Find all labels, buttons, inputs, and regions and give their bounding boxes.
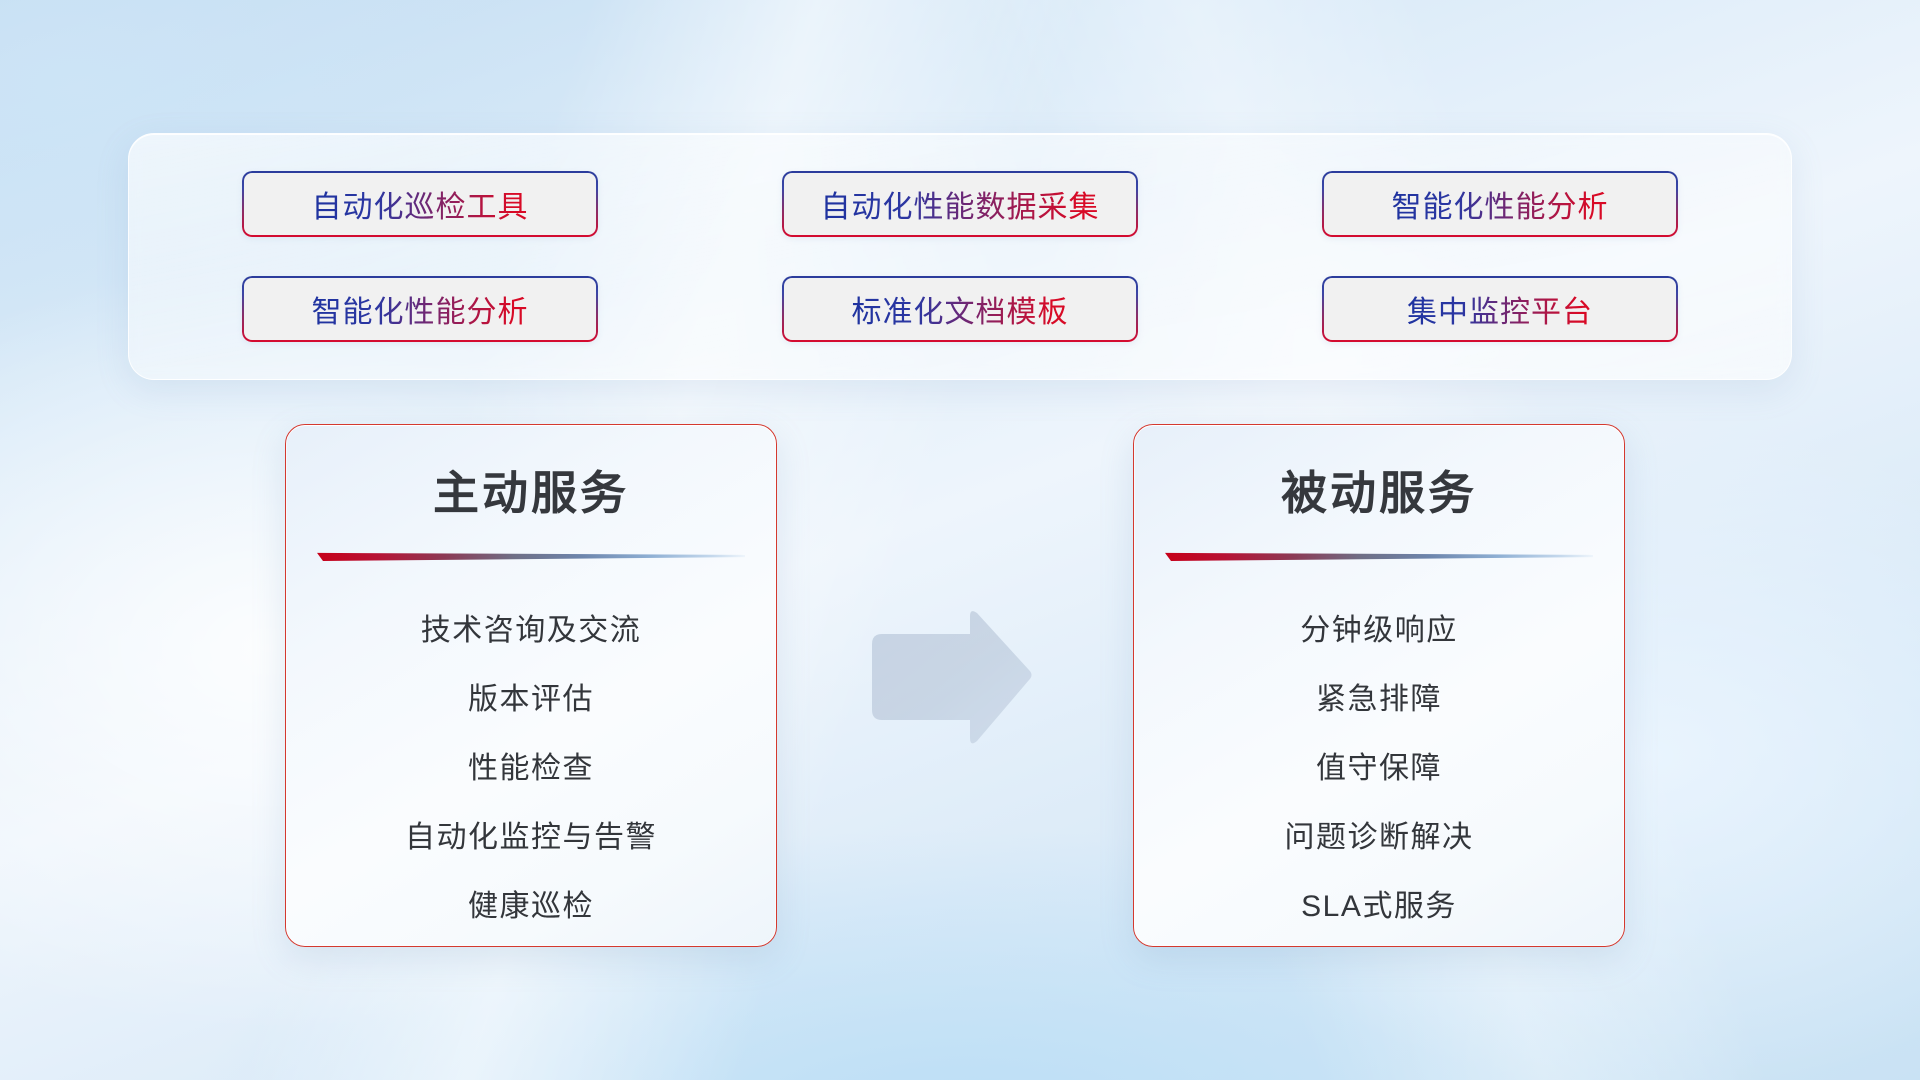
capability-pill-label: 智能化性能分析 <box>1392 182 1609 226</box>
service-item: 性能检查 <box>468 743 594 787</box>
divider-bar <box>1165 547 1593 561</box>
capability-tags-panel: 自动化巡检工具 自动化性能数据采集 智能化性能分析 智能化性能分析 标准化文档模… <box>128 133 1792 380</box>
capability-pill-label: 标准化文档模板 <box>852 287 1069 331</box>
card-title: 主动服务 <box>286 457 776 523</box>
capability-pill-5[interactable]: 标准化文档模板 <box>782 276 1138 342</box>
reactive-service-card[interactable]: 被动服务 分钟级响应 紧急排障 值守保障 问题诊断解决 SLA式服务 <box>1133 424 1625 947</box>
service-item: 问题诊断解决 <box>1285 812 1474 856</box>
card-title: 被动服务 <box>1134 457 1624 523</box>
service-item: SLA式服务 <box>1301 881 1457 925</box>
capability-pill-2[interactable]: 自动化性能数据采集 <box>782 171 1138 237</box>
divider-bar <box>317 547 745 561</box>
capability-pill-3[interactable]: 智能化性能分析 <box>1322 171 1678 237</box>
service-item: 紧急排障 <box>1316 674 1442 718</box>
arrow-right-icon <box>866 608 1034 748</box>
card-title-divider <box>317 547 745 561</box>
card-title-divider <box>1165 547 1593 561</box>
service-item: 版本评估 <box>468 674 594 718</box>
capability-pill-label: 集中监控平台 <box>1407 287 1593 331</box>
capability-pill-4[interactable]: 智能化性能分析 <box>242 276 598 342</box>
service-item: 分钟级响应 <box>1300 605 1458 649</box>
service-item-list: 技术咨询及交流 版本评估 性能检查 自动化监控与告警 健康巡检 <box>286 605 776 925</box>
capability-pill-label: 智能化性能分析 <box>312 287 529 331</box>
service-item: 值守保障 <box>1316 743 1442 787</box>
service-item: 健康巡检 <box>468 881 594 925</box>
capability-pill-6[interactable]: 集中监控平台 <box>1322 276 1678 342</box>
capability-pill-label: 自动化巡检工具 <box>312 182 529 226</box>
capability-pill-label: 自动化性能数据采集 <box>821 182 1100 226</box>
proactive-service-card[interactable]: 主动服务 技术咨询及交流 版本评估 性能检查 自动化监控与告警 健康巡检 <box>285 424 777 947</box>
service-item-list: 分钟级响应 紧急排障 值守保障 问题诊断解决 SLA式服务 <box>1134 605 1624 925</box>
service-item: 技术咨询及交流 <box>421 605 642 649</box>
service-item: 自动化监控与告警 <box>405 812 657 856</box>
capability-pill-1[interactable]: 自动化巡检工具 <box>242 171 598 237</box>
